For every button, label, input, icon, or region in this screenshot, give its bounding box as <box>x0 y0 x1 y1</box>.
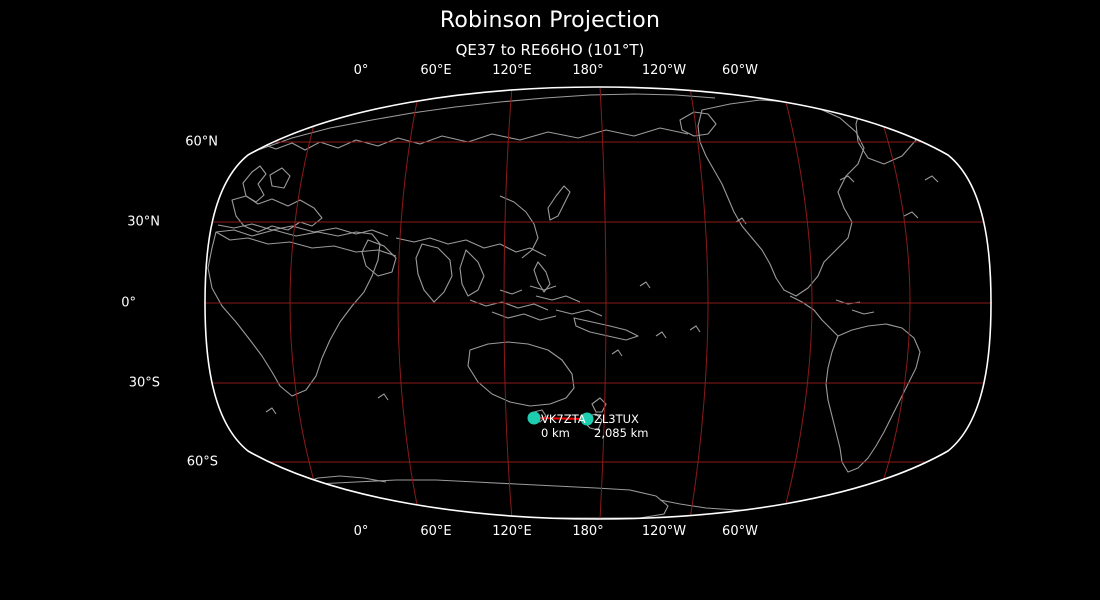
bottom-lon-tick-1: 60°E <box>420 524 451 539</box>
station-callsign-vk7zta: VK7ZTA <box>541 412 586 426</box>
lat-tick-0: 0° <box>121 296 136 311</box>
map-figure: Robinson Projection QE37 to RE66HO (101°… <box>0 0 1100 600</box>
station-marker-vk7zta[interactable] <box>528 412 541 425</box>
bottom-lon-tick-2: 120°E <box>492 524 532 539</box>
station-distance-vk7zta: 0 km <box>541 426 586 440</box>
lat-tick-30N: 30°N <box>127 215 160 230</box>
top-lon-tick-0: 0° <box>354 63 369 78</box>
station-callsign-zl3tux: ZL3TUX <box>594 412 648 426</box>
station-label-zl3tux: ZL3TUX 2,085 km <box>594 412 648 440</box>
top-lon-tick-4: 120°W <box>642 63 686 78</box>
top-lon-tick-2: 120°E <box>492 63 532 78</box>
bottom-lon-tick-5: 60°W <box>722 524 758 539</box>
bottom-lon-tick-3: 180° <box>572 524 603 539</box>
lat-tick-30S: 30°S <box>129 376 160 391</box>
top-lon-tick-3: 180° <box>572 63 603 78</box>
station-distance-zl3tux: 2,085 km <box>594 426 648 440</box>
map-interior <box>200 80 1000 530</box>
world-map-canvas <box>0 0 1100 600</box>
lat-tick-60S: 60°S <box>187 455 218 470</box>
top-lon-tick-1: 60°E <box>420 63 451 78</box>
top-lon-tick-5: 60°W <box>722 63 758 78</box>
bottom-lon-tick-0: 0° <box>354 524 369 539</box>
bottom-lon-tick-4: 120°W <box>642 524 686 539</box>
station-label-vk7zta: VK7ZTA 0 km <box>541 412 586 440</box>
lat-tick-60N: 60°N <box>185 135 218 150</box>
